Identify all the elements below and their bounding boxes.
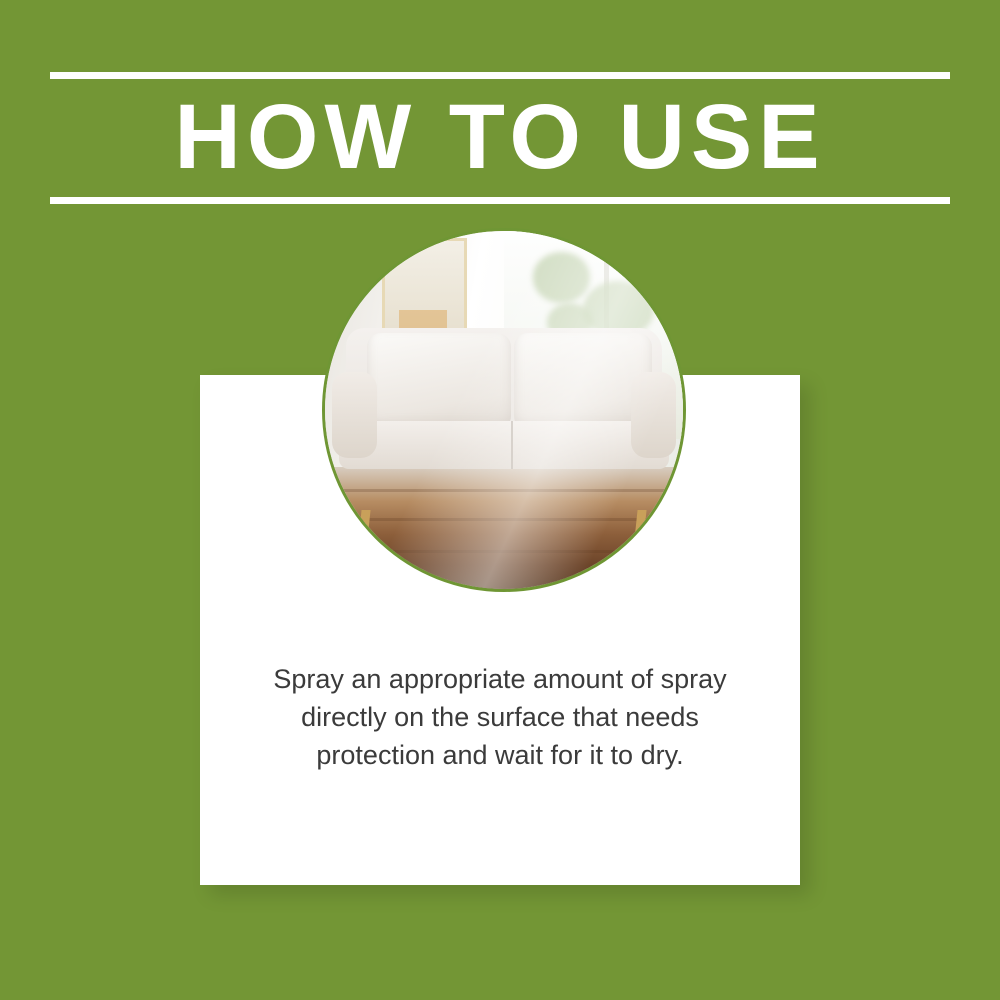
wall-art-frame <box>382 238 467 337</box>
sofa-photo-inner <box>325 231 683 589</box>
sofa-arm-right <box>631 372 676 458</box>
header-top-rule <box>50 72 950 79</box>
foliage-blob-1 <box>533 252 590 302</box>
sofa-seat <box>339 421 669 469</box>
sofa-photo <box>322 228 686 592</box>
sofa-seat-split <box>511 421 513 469</box>
poster-root: HOW TO USE Spray an appropriate amount o… <box>0 0 1000 1000</box>
page-title: HOW TO USE <box>50 79 950 197</box>
sofa <box>332 328 676 514</box>
sofa-cushion-left <box>367 333 511 430</box>
sofa-arm-left <box>332 372 377 458</box>
header: HOW TO USE <box>50 72 950 204</box>
header-bottom-rule <box>50 197 950 204</box>
instruction-text: Spray an appropriate amount of spray dir… <box>200 660 800 774</box>
